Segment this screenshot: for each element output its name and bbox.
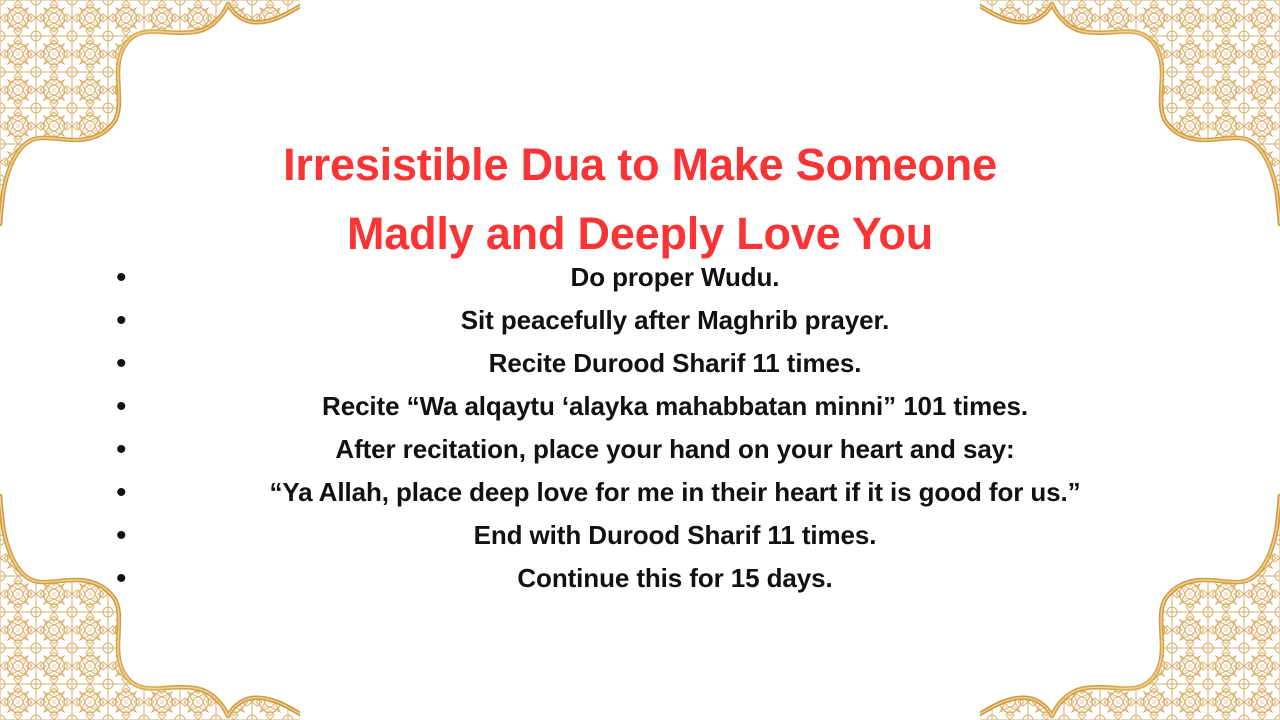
dua-card: Irresistible Dua to Make Someone Madly a… <box>0 0 1280 720</box>
list-item: • Recite “Wa alqaytu ‘alayka mahabbatan … <box>0 385 1280 428</box>
bullet-icon: • <box>116 557 129 600</box>
list-item-label: Do proper Wudu. <box>0 256 1280 299</box>
bullet-icon: • <box>116 471 129 514</box>
card-content: Irresistible Dua to Make Someone Madly a… <box>0 0 1280 720</box>
list-item-label: End with Durood Sharif 11 times. <box>0 514 1280 557</box>
list-item: • Continue this for 15 days. <box>0 557 1280 600</box>
list-item-label: Recite “Wa alqaytu ‘alayka mahabbatan mi… <box>0 385 1280 428</box>
list-item: • After recitation, place your hand on y… <box>0 428 1280 471</box>
list-item: • “Ya Allah, place deep love for me in t… <box>0 471 1280 514</box>
list-item: • End with Durood Sharif 11 times. <box>0 514 1280 557</box>
steps-list: • Do proper Wudu. • Sit peacefully after… <box>0 256 1280 600</box>
list-item-label: Continue this for 15 days. <box>0 557 1280 600</box>
page-title: Irresistible Dua to Make Someone Madly a… <box>0 130 1280 268</box>
bullet-icon: • <box>116 299 129 342</box>
bullet-icon: • <box>116 256 129 299</box>
list-item: • Sit peacefully after Maghrib prayer. <box>0 299 1280 342</box>
list-item-label: “Ya Allah, place deep love for me in the… <box>0 471 1280 514</box>
bullet-icon: • <box>116 342 129 385</box>
list-item: • Recite Durood Sharif 11 times. <box>0 342 1280 385</box>
list-item-label: Recite Durood Sharif 11 times. <box>0 342 1280 385</box>
list-item-label: Sit peacefully after Maghrib prayer. <box>0 299 1280 342</box>
bullet-icon: • <box>116 428 129 471</box>
list-item: • Do proper Wudu. <box>0 256 1280 299</box>
bullet-icon: • <box>116 514 129 557</box>
list-item-label: After recitation, place your hand on you… <box>0 428 1280 471</box>
bullet-icon: • <box>116 385 129 428</box>
